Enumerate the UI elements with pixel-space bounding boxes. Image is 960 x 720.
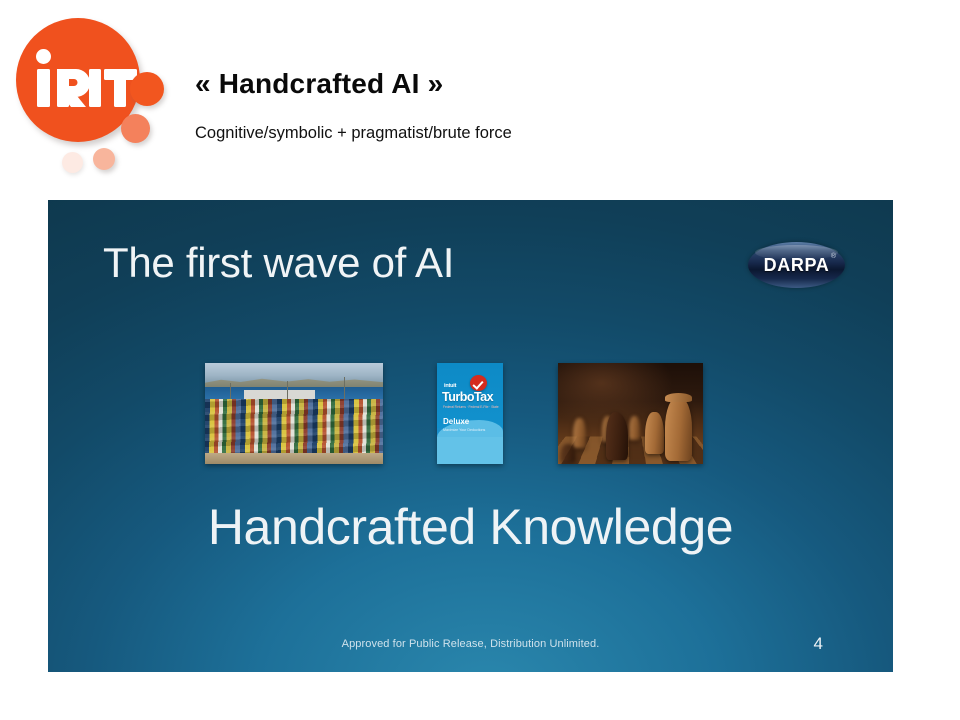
turbotax-box-bottom xyxy=(437,437,503,464)
irit-logo xyxy=(8,10,183,170)
chess-piece-queen xyxy=(665,397,692,461)
slide-image-row: intuit TurboTax Federal Returns · Federa… xyxy=(48,200,893,672)
port-crane-2 xyxy=(287,381,289,401)
irit-logo-bubble-4 xyxy=(62,152,83,173)
port-dock xyxy=(205,453,383,464)
turbotax-edition-label: Deluxe xyxy=(443,417,469,426)
page-subtitle: Cognitive/symbolic + pragmatist/brute fo… xyxy=(195,124,512,143)
turbotax-box-photo: intuit TurboTax Federal Returns · Federa… xyxy=(437,363,503,464)
turbotax-product-label: TurboTax xyxy=(442,390,493,404)
irit-logo-bubble-3 xyxy=(93,148,115,170)
turbotax-tagline-label: Maximize Your Deductions xyxy=(443,428,485,432)
page-header: « Handcrafted AI » Cognitive/symbolic + … xyxy=(0,0,960,190)
intuit-brand-label: intuit xyxy=(444,383,456,389)
chess-piece-pawn-front xyxy=(561,444,575,462)
irit-logo-bubble-1 xyxy=(130,72,164,106)
chess-piece-bishop xyxy=(645,412,664,454)
turbotax-features-label: Federal Returns · Federal E-File · State… xyxy=(443,405,499,409)
slide-caption: Handcrafted Knowledge xyxy=(48,498,893,556)
turbotax-checkmark-icon xyxy=(470,375,487,391)
page-title: « Handcrafted AI » xyxy=(195,68,443,100)
chess-pieces-photo xyxy=(558,363,703,464)
darpa-slide: The first wave of AI DARPA ® intuit Turb xyxy=(48,200,893,672)
slide-disclaimer: Approved for Public Release, Distributio… xyxy=(48,638,893,650)
shipping-container-port-photo xyxy=(205,363,383,464)
chess-piece-pawn-back-3 xyxy=(629,416,640,440)
port-cargo-ship xyxy=(244,390,315,399)
chess-piece-knight xyxy=(606,412,628,460)
chess-piece-pawn-back-1 xyxy=(573,418,586,448)
irit-logo-bubble-2 xyxy=(121,114,150,143)
chess-piece-queen-crown xyxy=(665,393,692,402)
slide-page-number: 4 xyxy=(814,634,823,654)
